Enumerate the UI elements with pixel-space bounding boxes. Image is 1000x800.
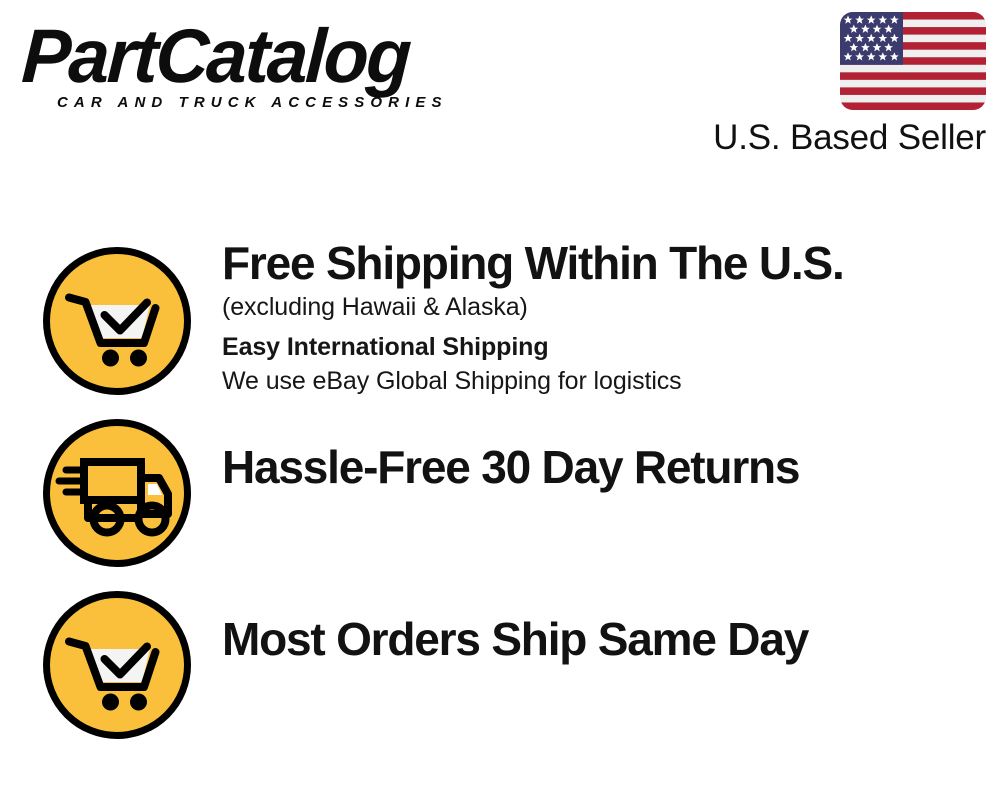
- seller-info-banner: PartCatalog CAR AND TRUCK ACCESSORIES: [0, 0, 1000, 800]
- delivery-truck-icon: [42, 418, 192, 568]
- feature-heading: Hassle-Free 30 Day Returns: [222, 440, 990, 494]
- feature-subtext-international: Easy International Shipping: [222, 324, 990, 364]
- feature-row-shipping: Free Shipping Within The U.S. (excluding…: [0, 232, 1000, 404]
- feature-row-returns: Hassle-Free 30 Day Returns: [0, 404, 1000, 576]
- feature-text-same-day: Most Orders Ship Same Day: [222, 612, 990, 666]
- shopping-cart-check-icon: [42, 590, 192, 740]
- feature-text-shipping: Free Shipping Within The U.S. (excluding…: [222, 236, 990, 398]
- brand-logo: PartCatalog CAR AND TRUCK ACCESSORIES: [24, 18, 494, 118]
- us-flag-icon: [840, 12, 986, 110]
- us-based-seller-label: U.S. Based Seller: [713, 118, 986, 158]
- feature-row-same-day: Most Orders Ship Same Day: [0, 576, 1000, 748]
- brand-wordmark: PartCatalog: [20, 18, 480, 96]
- feature-heading: Most Orders Ship Same Day: [222, 612, 990, 666]
- shopping-cart-check-icon: [42, 246, 192, 396]
- feature-text-returns: Hassle-Free 30 Day Returns: [222, 440, 990, 494]
- feature-subtext-exclusions: (excluding Hawaii & Alaska): [222, 290, 990, 324]
- feature-subtext-logistics: We use eBay Global Shipping for logistic…: [222, 364, 990, 398]
- feature-heading: Free Shipping Within The U.S.: [222, 236, 990, 290]
- feature-list: Free Shipping Within The U.S. (excluding…: [0, 232, 1000, 748]
